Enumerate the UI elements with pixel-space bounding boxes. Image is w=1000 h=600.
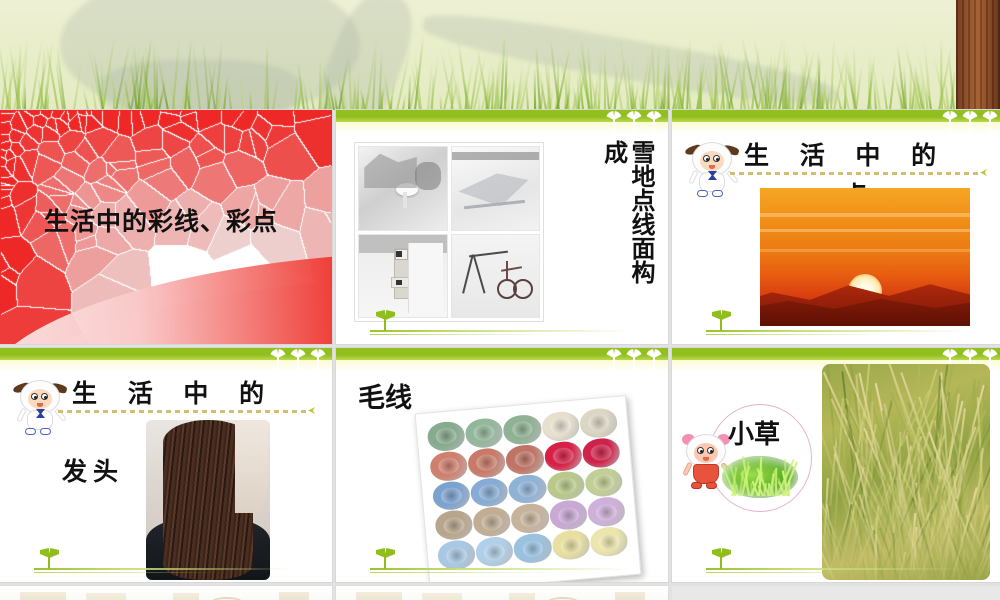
yarn-ball	[467, 447, 507, 479]
sprout-icon	[270, 348, 286, 370]
snow-post-photo	[358, 234, 448, 319]
sprout-icon	[982, 110, 998, 132]
yarn-ball	[579, 407, 619, 439]
yarn-ball	[543, 440, 583, 472]
sprout-icon	[290, 348, 306, 370]
sprout-icon	[606, 348, 622, 370]
slide-thumbnail-grid: 生活中的彩线、彩点	[0, 110, 1000, 600]
yarn-ball	[505, 443, 545, 475]
sheep-xiyangyang-character	[14, 378, 66, 440]
slide-thumbnail-4[interactable]: 生 活 中 的 发头	[0, 348, 332, 582]
title-underline-decor	[58, 410, 308, 413]
slide-2-vertical-main: 雪地点线面构	[629, 140, 654, 284]
slide-thumbnail-7-partial[interactable]	[0, 586, 332, 600]
slide-2-vertical-text: 雪地点线面构 成	[474, 140, 654, 284]
title-underline-decor	[730, 172, 980, 175]
sprout-icon	[310, 348, 326, 370]
grass-nature-header-banner	[0, 0, 1000, 110]
sprout-icons-group	[606, 348, 662, 370]
sprout-icon	[942, 110, 958, 132]
slide-thumbnail-2[interactable]: 雪地点线面构 成	[336, 110, 668, 344]
yarn-ball	[432, 480, 472, 512]
slide-4-subword: 发头	[62, 452, 124, 488]
bottom-sprout-decor	[706, 310, 966, 336]
sprout-icon	[626, 110, 642, 132]
slide-thumbnail-5[interactable]: 毛线	[336, 348, 668, 582]
slide-thumbnail-8-partial[interactable]	[336, 586, 668, 600]
slide-2-vertical-tail: 成	[601, 140, 626, 284]
bottom-sprout-decor	[370, 310, 630, 336]
sprout-icons-group	[606, 110, 662, 132]
yarn-ball	[586, 496, 626, 528]
yarn-ball	[510, 503, 550, 535]
yarn-ball	[584, 466, 624, 498]
bottom-sprout-decor	[34, 548, 294, 574]
yarn-ball	[503, 414, 543, 446]
yarn-ball	[426, 420, 466, 452]
bottom-sprout-decor	[706, 548, 966, 574]
slide-thumbnail-6[interactable]: 小草	[672, 348, 1000, 582]
yarn-ball	[434, 509, 474, 541]
yarn-ball	[581, 437, 621, 469]
grass-blades-oval-photo	[722, 456, 798, 498]
bottom-sprout-decor	[370, 548, 630, 574]
yarn-ball	[548, 499, 588, 531]
yarn-ball	[546, 470, 586, 502]
sprout-icons-group	[270, 348, 326, 370]
sprout-icon	[606, 110, 622, 132]
yarn-ball	[470, 476, 510, 508]
sprout-icon	[962, 110, 978, 132]
yarn-ball	[429, 450, 469, 482]
slide-3-title: 生 活 中 的	[744, 136, 947, 172]
yarn-ball	[472, 506, 512, 538]
slide-1-title: 生活中的彩线、彩点	[0, 202, 322, 238]
sprout-icon	[626, 348, 642, 370]
tree-trunk-decor	[956, 0, 1000, 110]
sprout-icon	[646, 110, 662, 132]
sprout-icon	[646, 348, 662, 370]
slide-thumbnail-3[interactable]: 生 活 中 的 点	[672, 110, 1000, 344]
yarn-ball	[541, 410, 581, 442]
sprout-icons-group	[942, 110, 998, 132]
slide-thumbnail-9-partial[interactable]	[672, 586, 1000, 600]
sheep-xiyangyang-character	[686, 140, 738, 202]
slide-thumbnail-1[interactable]: 生活中的彩线、彩点	[0, 110, 332, 344]
yarn-ball	[508, 473, 548, 505]
slide-6-title: 小草	[728, 414, 780, 451]
slide-5-title: 毛线	[358, 376, 412, 415]
snow-sculpture-photo	[358, 146, 448, 231]
slide-4-title: 生 活 中 的	[72, 374, 275, 410]
yarn-ball	[465, 417, 505, 449]
sunset-mountain-photo	[760, 188, 970, 326]
